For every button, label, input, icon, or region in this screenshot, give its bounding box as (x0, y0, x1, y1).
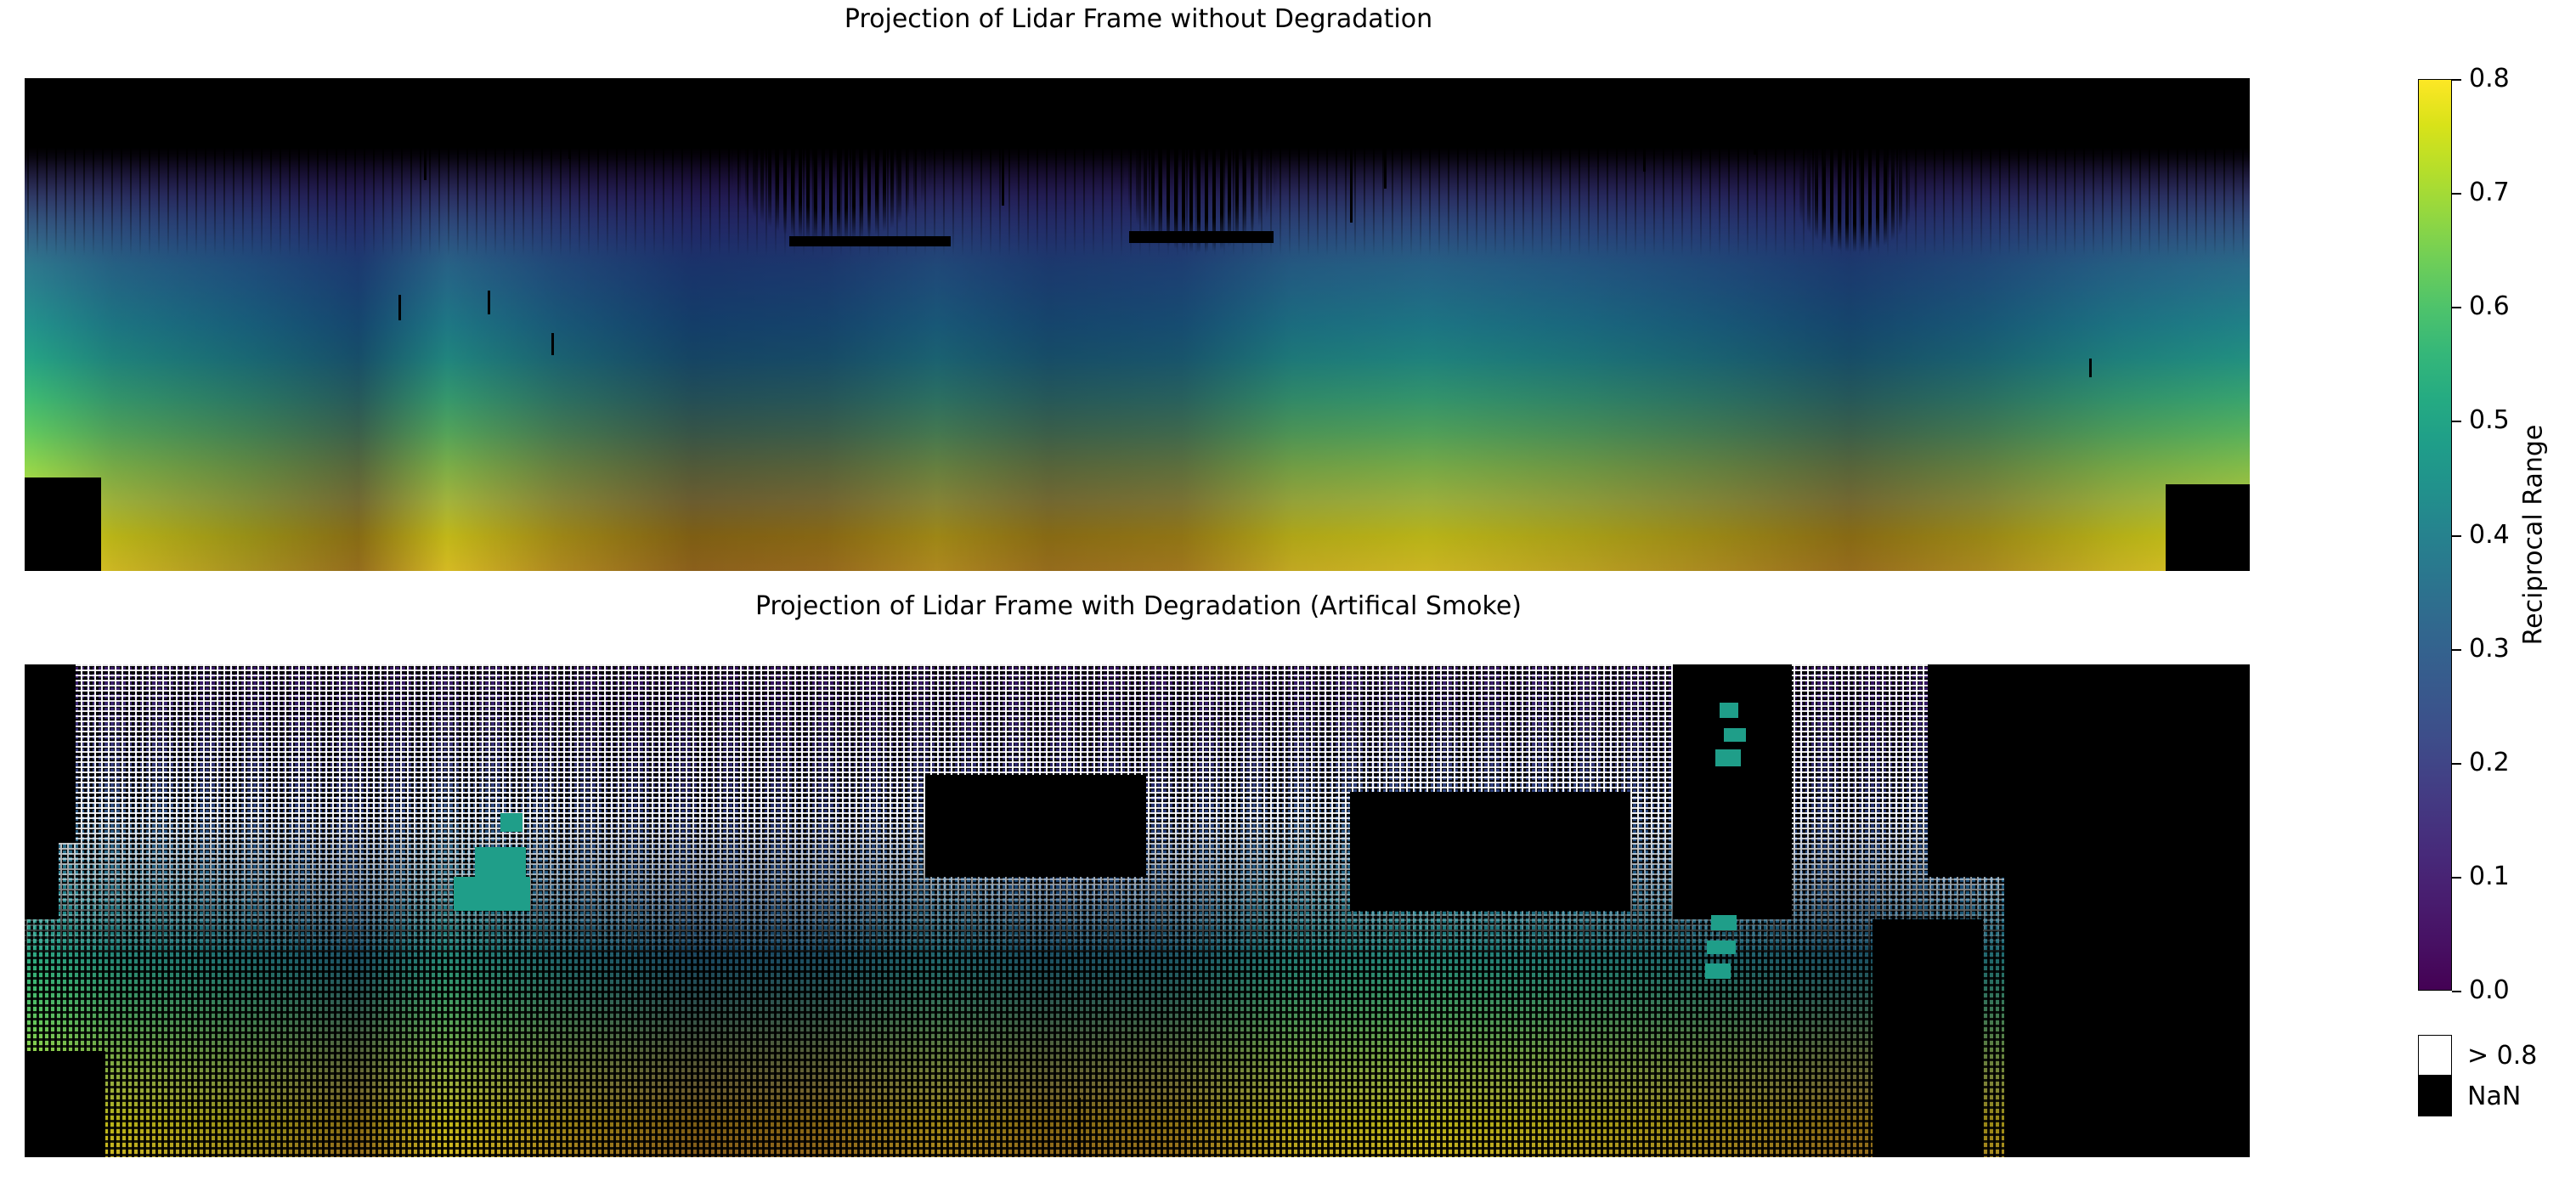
nan-foliage-cluster (1121, 104, 1278, 252)
nan-streak (738, 1089, 741, 1157)
high-return-patch (1720, 703, 1738, 718)
colorbar-tick (2452, 877, 2461, 879)
nan-region (2166, 484, 2250, 571)
nan-streak (1643, 78, 1646, 172)
high-return-patch (500, 813, 523, 832)
nan-streak (322, 1072, 325, 1157)
high-return-patch (1715, 749, 1741, 766)
nan-streak (1078, 1098, 1081, 1157)
nan-region (1928, 664, 2250, 877)
nan-region (449, 78, 730, 100)
legend-row-over: > 0.8 (2418, 1035, 2571, 1076)
colorbar-tick-label: 0.4 (2469, 523, 2510, 548)
colorbar: 0.8 0.7 0.6 0.5 0.4 0.3 0.2 0.1 0.0 (2418, 79, 2452, 991)
colorbar-tick-label: 0.1 (2469, 864, 2510, 890)
colorbar-tick (2452, 649, 2461, 651)
panel-title-top: Projection of Lidar Frame without Degrad… (0, 5, 2277, 34)
colorbar-tick-label: 0.5 (2469, 408, 2510, 433)
nan-streak (488, 291, 490, 314)
nan-region (1129, 231, 1274, 243)
legend-label-over: > 0.8 (2467, 1035, 2537, 1076)
colorbar-tick (2452, 193, 2461, 195)
colorbar-tick-label: 0.0 (2469, 978, 2510, 1003)
legend-swatch-nan (2418, 1076, 2452, 1116)
nan-foliage-cluster (1792, 125, 1919, 252)
colorbar-tick-label: 0.3 (2469, 636, 2510, 662)
nan-streak (1002, 78, 1004, 206)
figure-canvas: Projection of Lidar Frame without Degrad… (0, 0, 2576, 1181)
colorbar-tick (2452, 79, 2461, 81)
nan-streak (2089, 359, 2092, 377)
panel-title-bottom: Projection of Lidar Frame with Degradati… (0, 592, 2277, 621)
nan-region (789, 236, 951, 246)
nan-streak (424, 78, 427, 180)
nan-region (25, 1051, 105, 1157)
colorbar-axis-label: Reciprocal Range (2517, 79, 2551, 991)
lidar-projection-image-top (25, 78, 2250, 571)
colorbar-tick-label: 0.6 (2469, 294, 2510, 319)
nan-region (173, 78, 347, 109)
nan-streak (551, 333, 554, 355)
nan-region (1350, 792, 1630, 911)
colorbar-gradient (2418, 79, 2452, 991)
high-return-patch (1705, 963, 1731, 979)
nan-region (25, 766, 59, 919)
legend-swatch-over (2418, 1035, 2452, 1076)
nan-region (2004, 877, 2250, 1157)
high-return-patch (1724, 728, 1746, 742)
colorbar-tick (2452, 991, 2461, 992)
high-return-patch (454, 877, 530, 911)
legend-label-nan: NaN (2467, 1076, 2521, 1116)
colorbar-tick-label: 0.7 (2469, 180, 2510, 206)
nan-streak (1350, 78, 1353, 223)
nan-streak (568, 78, 571, 159)
nan-streak (1384, 78, 1387, 189)
high-return-patch (1711, 915, 1737, 930)
special-value-legend: > 0.8 NaN (2418, 1035, 2571, 1116)
colorbar-tick (2452, 763, 2461, 765)
nan-streak (1754, 78, 1756, 155)
colorbar-axis-label-text: Reciprocal Range (2519, 425, 2549, 646)
lidar-projection-image-bottom (25, 664, 2250, 1157)
nan-region (1027, 78, 1163, 104)
nan-region (925, 775, 1146, 877)
colorbar-tick (2452, 421, 2461, 422)
nan-region (25, 477, 101, 571)
high-return-patch (1707, 941, 1736, 954)
colorbar-tick-label: 0.8 (2469, 66, 2510, 92)
nan-region (1350, 78, 1452, 97)
nan-foliage-cluster (730, 93, 934, 242)
nan-streak (398, 295, 401, 320)
colorbar-tick-label: 0.2 (2469, 750, 2510, 776)
nan-region (1873, 919, 1983, 1157)
colorbar-tick (2452, 307, 2461, 308)
colorbar-tick (2452, 535, 2461, 537)
legend-row-nan: NaN (2418, 1076, 2571, 1116)
